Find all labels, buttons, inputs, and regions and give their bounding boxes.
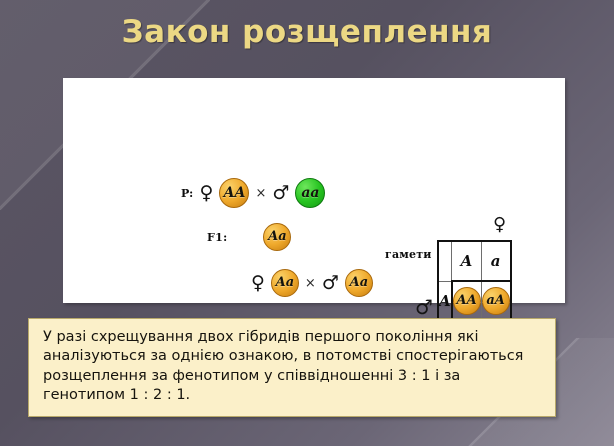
punnett-cell-1-1: AA xyxy=(452,281,482,321)
parental-male-genotype: aa xyxy=(295,178,325,208)
f1-cross-male-genotype: Aa xyxy=(345,269,373,297)
f1-label: F1: xyxy=(207,231,227,244)
punnett-genotype-1-1: AA xyxy=(453,287,481,315)
punnett-male-symbol-icon: ♂ xyxy=(415,297,433,317)
slide-title: Закон розщеплення xyxy=(0,14,614,50)
f1-cross-female-genotype: Aa xyxy=(271,269,299,297)
gametes-label: гамети xyxy=(385,248,432,261)
parental-generation-row: P: ♀ AA × ♂ aa xyxy=(181,178,325,208)
punnett-genotype-1-2: aA xyxy=(482,287,510,315)
punnett-row-1: A AA aA xyxy=(438,281,511,321)
cross-symbol-icon: × xyxy=(255,186,266,201)
statement-box: У разі схрещування двох гібридів першого… xyxy=(28,318,556,417)
punnett-female-symbol-icon: ♀ xyxy=(493,216,506,234)
f1-cross-symbol-icon: × xyxy=(305,276,316,291)
f1-female-symbol-icon: ♀ xyxy=(251,274,265,293)
punnett-header-row: A a xyxy=(438,241,511,281)
punnett-corner-cell xyxy=(438,241,452,281)
f1-genotype: Aa xyxy=(263,223,291,251)
diagram-panel: P: ♀ AA × ♂ aa F1: Aa ♀ Aa × ♂ Aa F2: 1 … xyxy=(63,78,565,303)
f1-male-symbol-icon: ♂ xyxy=(322,274,339,293)
male-symbol-icon: ♂ xyxy=(272,184,289,203)
parental-female-genotype: AA xyxy=(219,178,249,208)
punnett-col-header-1: A xyxy=(452,241,482,281)
punnett-row-header-1: A xyxy=(438,281,452,321)
slide: Закон розщеплення P: ♀ AA × ♂ aa F1: Aa … xyxy=(0,0,614,446)
statement-text: У разі схрещування двох гібридів першого… xyxy=(43,328,541,405)
f1-cross-row: ♀ Aa × ♂ Aa xyxy=(251,269,373,297)
parental-label: P: xyxy=(181,187,194,200)
punnett-col-header-2: a xyxy=(481,241,511,281)
punnett-cell-1-2: aA xyxy=(481,281,511,321)
f1-generation-row: F1: Aa xyxy=(207,223,291,251)
female-symbol-icon: ♀ xyxy=(200,184,214,203)
